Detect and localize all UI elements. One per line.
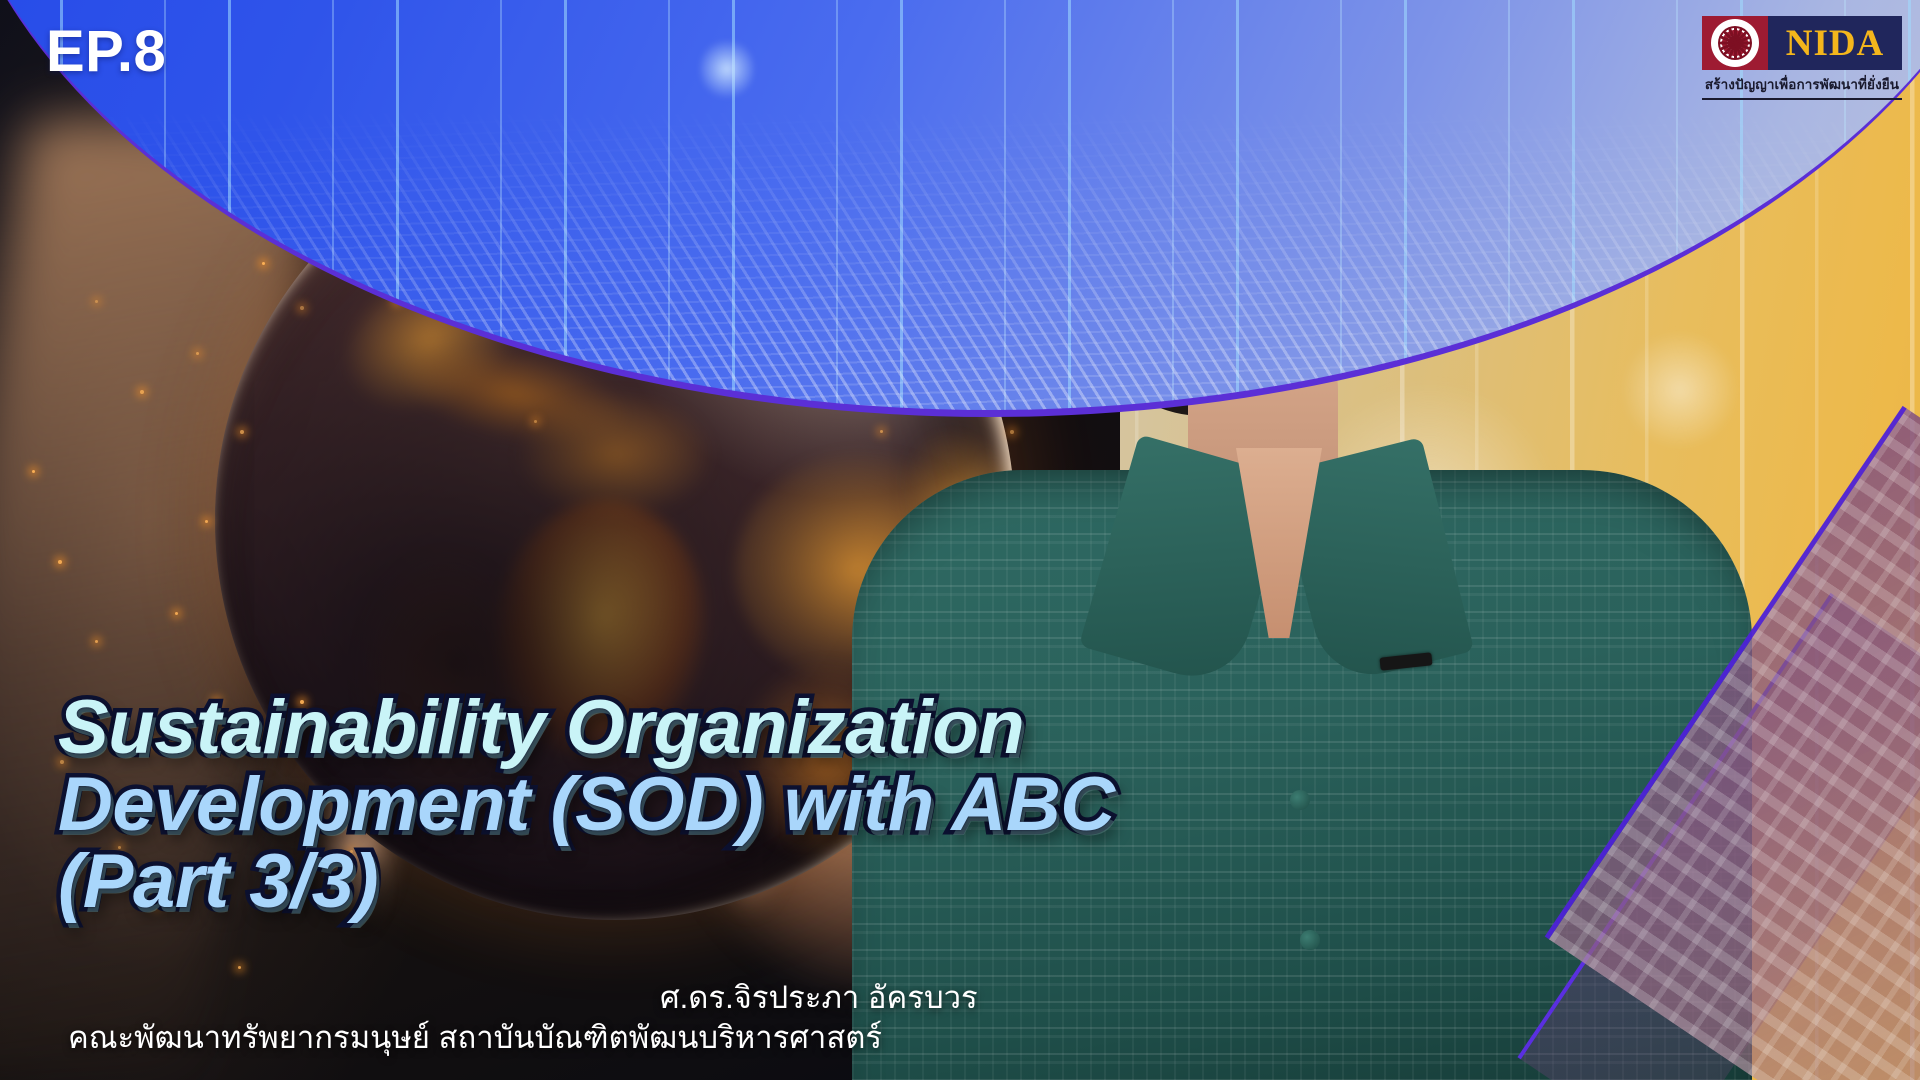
nida-seal-icon bbox=[1702, 16, 1768, 70]
nida-rule-divider bbox=[1702, 98, 1902, 100]
nida-tagline: สร้างปัญญาเพื่อการพัฒนาที่ยั่งยืน bbox=[1702, 73, 1902, 95]
nida-logo: NIDA สร้างปัญญาเพื่อการพัฒนาที่ยั่งยืน bbox=[1702, 16, 1902, 100]
presenter-organization: คณะพัฒนาทรัพยากรมนุษย์ สถาบันบัณฑิตพัฒนบ… bbox=[68, 1012, 882, 1062]
page-title: Sustainability Organization Development … bbox=[58, 690, 1458, 922]
title-card: EP.8 NIDA สร้างปัญญาเพื่อการพัฒนาที่ยั่ง… bbox=[0, 0, 1920, 1080]
episode-badge: EP.8 bbox=[46, 18, 166, 85]
title-line-1: Sustainability Organization bbox=[58, 690, 1458, 765]
blue-curved-banner bbox=[0, 0, 1920, 417]
title-line-3: (Part 3/3) bbox=[58, 844, 1458, 919]
title-line-2: Development (SOD) with ABC bbox=[58, 767, 1458, 842]
nida-wordmark-text: NIDA bbox=[1786, 25, 1885, 62]
nida-wordmark: NIDA bbox=[1768, 16, 1902, 70]
